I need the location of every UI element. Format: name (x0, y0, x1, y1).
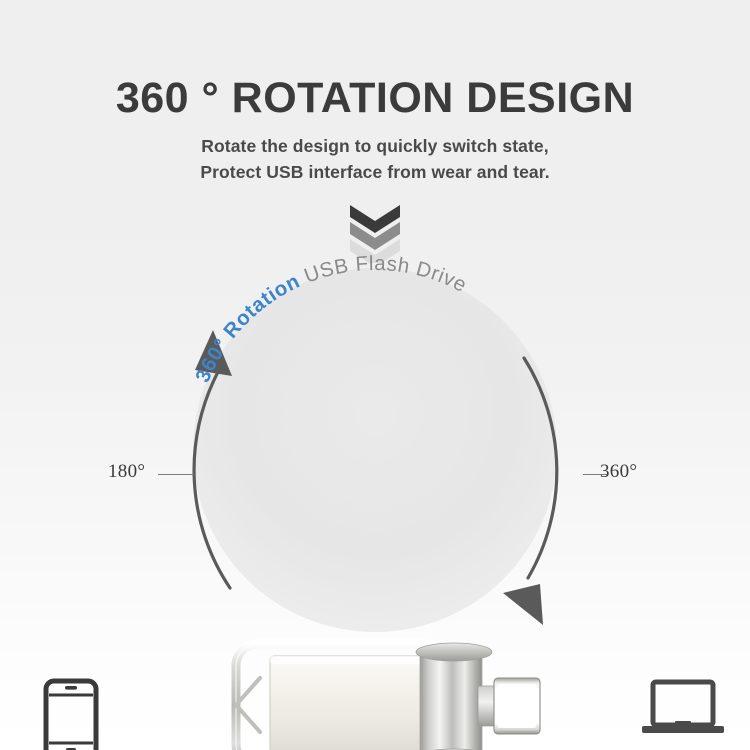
drive-body (270, 656, 422, 750)
device-left-group: To Type-C (18, 678, 123, 750)
subtitle-line-2: Protect USB interface from wear and tear… (0, 160, 750, 185)
page-title: 360 ° ROTATION DESIGN (0, 0, 750, 121)
smartphone-icon-body (46, 681, 96, 750)
connector-neck (478, 686, 496, 726)
angle-label-right: 360° (600, 461, 637, 483)
laptop-icon-base (642, 726, 724, 733)
usb-c-connector-face (498, 684, 536, 728)
laptop-icon (640, 678, 726, 742)
laptop-icon-screen (653, 682, 713, 725)
usb-flash-drive-graphic (222, 630, 542, 750)
laptop-icon-trackpad-notch (675, 721, 691, 725)
leader-line-right (583, 474, 607, 475)
header-section: 360 ° ROTATION DESIGN Rotate the design … (0, 0, 750, 185)
angle-label-left: 180° (108, 461, 145, 483)
smartphone-icon-speaker (65, 686, 77, 690)
rotation-arrowhead-right (503, 584, 543, 625)
product-feature-page: 360 ° ROTATION DESIGN Rotate the design … (0, 0, 750, 750)
subtitle-block: Rotate the design to quickly switch stat… (0, 121, 750, 185)
device-right-group: To PC/Mac (628, 678, 738, 750)
usb-flash-drive-photo (222, 630, 542, 750)
smartphone-icon (42, 678, 100, 750)
leader-line-left (158, 474, 194, 475)
hinge-cap-top (416, 643, 492, 661)
drive-body-gloss (270, 656, 422, 664)
subtitle-line-1: Rotate the design to quickly switch stat… (0, 134, 750, 159)
hinge-barrel (420, 652, 482, 750)
